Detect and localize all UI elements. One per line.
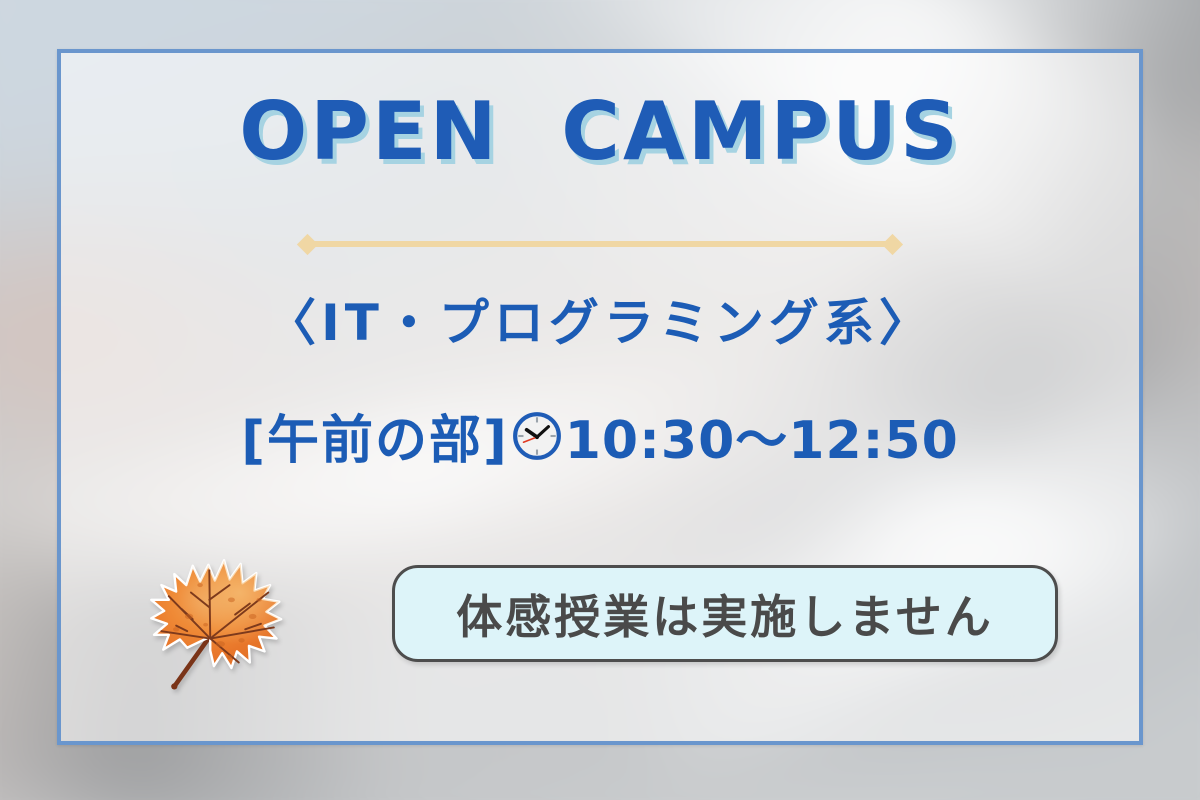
diamond-icon (882, 233, 903, 254)
session-label: [午前の部] (241, 398, 509, 473)
diamond-icon (297, 233, 318, 254)
divider-line (312, 241, 888, 247)
subtitle: 〈IT・プログラミング系〉 (0, 283, 1200, 355)
status-badge: 体感授業は実施しません (392, 565, 1058, 662)
open-campus-poster: OPEN CAMPUS 〈IT・プログラミング系〉 [午前の部] 10:30〜1… (0, 0, 1200, 800)
note-text: 体感授業は実施しません (456, 581, 994, 647)
divider (300, 236, 900, 252)
maple-leaf-icon (118, 528, 308, 703)
page-title: OPEN CAMPUS (0, 85, 1200, 178)
clock-icon (511, 410, 563, 462)
session-time-row: [午前の部] 10:30〜12:50 (0, 398, 1200, 473)
time-range: 10:30〜12:50 (565, 398, 959, 473)
